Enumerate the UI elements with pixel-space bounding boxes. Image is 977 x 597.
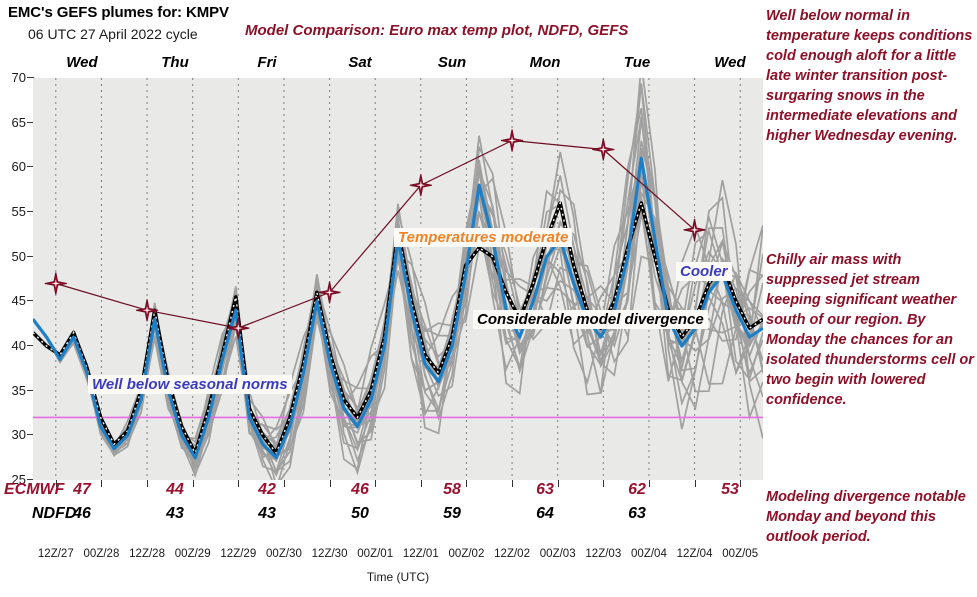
cycle-subtitle: 06 UTC 27 April 2022 cycle	[28, 26, 198, 42]
ecmwf-star-center	[143, 306, 151, 314]
commentary-paragraph-2: Chilly air mass with suppressed jet stre…	[766, 250, 974, 410]
ndfd-value-wed-0: 46	[52, 505, 112, 523]
model-comparison-title: Model Comparison: Euro max temp plot, ND…	[245, 22, 628, 39]
y-tick-60: 60	[0, 159, 26, 174]
ecmwf-star-center	[508, 136, 516, 144]
x-tick-mark	[238, 480, 239, 487]
ecmwf-star-center	[52, 279, 60, 287]
x-tick-mark	[695, 480, 696, 487]
x-tick-00Z-05: 00Z/05	[712, 548, 768, 560]
callout-temperatures-moderate: Temperatures moderate	[394, 228, 572, 247]
commentary-paragraph-3: Modeling divergence notable Monday and b…	[766, 487, 974, 547]
x-tick-mark	[101, 480, 102, 487]
ecmwf-value-mon-5: 63	[515, 481, 575, 499]
day-label-sun: Sun	[417, 54, 487, 71]
x-tick-mark	[284, 480, 285, 487]
x-tick-mark	[421, 480, 422, 487]
ecmwf-value-wed-7: 53	[700, 481, 760, 499]
ndfd-value-thu-1: 43	[145, 505, 205, 523]
y-tick-50: 50	[0, 249, 26, 264]
ecmwf-value-fri-2: 42	[237, 481, 297, 499]
day-label-wed-1: Wed	[47, 54, 117, 71]
x-tick-mark	[649, 480, 650, 487]
commentary-paragraph-1: Well below normal in temperature keeps c…	[766, 6, 974, 146]
callout-model-divergence: Considerable model divergence	[473, 310, 708, 329]
x-tick-mark	[466, 480, 467, 487]
ecmwf-value-wed-0: 47	[52, 481, 112, 499]
x-tick-mark	[558, 480, 559, 487]
day-label-sat: Sat	[325, 54, 395, 71]
y-tick-40: 40	[0, 338, 26, 353]
plume-plot-svg	[33, 78, 763, 480]
day-label-tue: Tue	[602, 54, 672, 71]
ndfd-value-fri-2: 43	[237, 505, 297, 523]
x-tick-mark	[375, 480, 376, 487]
plot-panel	[33, 78, 763, 480]
ndfd-value-tue-6: 63	[607, 505, 667, 523]
x-tick-mark	[740, 480, 741, 487]
x-tick-mark	[330, 480, 331, 487]
day-label-fri: Fri	[232, 54, 302, 71]
callout-cooler: Cooler	[676, 262, 732, 281]
ensemble-member-traces	[33, 78, 763, 480]
ndfd-value-sat-3: 50	[330, 505, 390, 523]
y-tick-30: 30	[0, 427, 26, 442]
y-tick-70: 70	[0, 70, 26, 85]
x-tick-mark	[56, 480, 57, 487]
ndfd-value-mon-5: 64	[515, 505, 575, 523]
ecmwf-value-tue-6: 62	[607, 481, 667, 499]
y-tick-65: 65	[0, 115, 26, 130]
ecmwf-value-thu-1: 44	[145, 481, 205, 499]
x-tick-mark	[147, 480, 148, 487]
x-axis-title: Time (UTC)	[0, 570, 796, 584]
ecmwf-value-sat-3: 46	[330, 481, 390, 499]
page-title: EMC's GEFS plumes for: KMPV	[8, 4, 229, 21]
ndfd-value-sun-4: 59	[422, 505, 482, 523]
ensemble-member	[33, 84, 763, 471]
day-label-mon: Mon	[510, 54, 580, 71]
day-label-thu: Thu	[140, 54, 210, 71]
x-tick-mark	[603, 480, 604, 487]
y-tick-55: 55	[0, 204, 26, 219]
day-label-wed-2: Wed	[695, 54, 765, 71]
x-tick-mark	[512, 480, 513, 487]
ecmwf-value-sun-4: 58	[422, 481, 482, 499]
y-tick-35: 35	[0, 383, 26, 398]
x-tick-mark	[193, 480, 194, 487]
callout-below-seasonal-norms: Well below seasonal norms	[88, 375, 292, 394]
y-tick-45: 45	[0, 293, 26, 308]
gefs-plume-figure: EMC's GEFS plumes for: KMPV 06 UTC 27 Ap…	[0, 0, 977, 597]
